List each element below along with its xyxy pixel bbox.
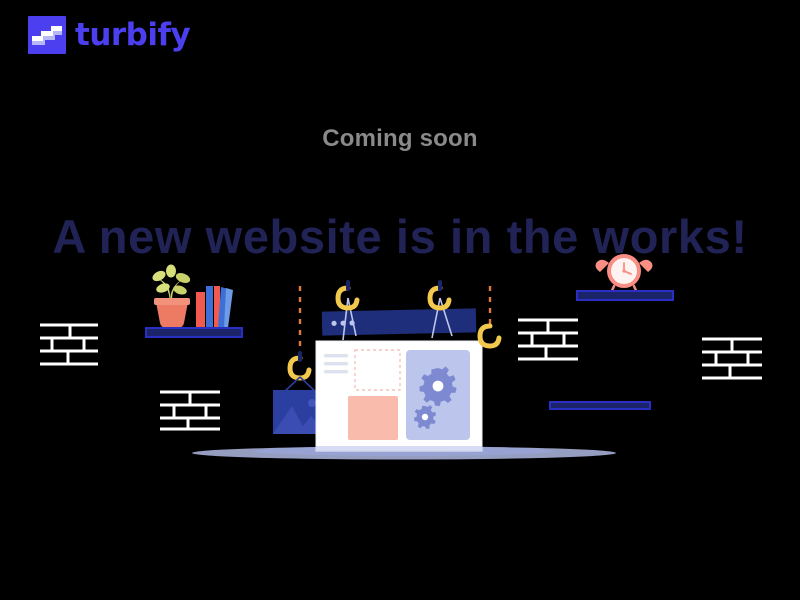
browser-dots [331, 320, 354, 326]
gears-panel[interactable] [406, 350, 470, 440]
brick-wall-center-right [518, 320, 578, 359]
brick-wall-left-lower [160, 392, 220, 429]
potted-plant [151, 265, 192, 329]
turbify-staircase-logo-icon [28, 16, 66, 54]
brick-wall-far-right [702, 339, 762, 378]
books [196, 286, 233, 328]
brand-logo[interactable]: turbify [28, 16, 190, 54]
shelf-left [146, 328, 242, 337]
placeholder-dashed-box [355, 350, 400, 390]
alarm-clock [596, 254, 653, 293]
hanging-hook-image [290, 353, 309, 378]
brand-wordmark: turbify [75, 20, 190, 51]
browser-sidebar-lines [324, 354, 348, 373]
shelf-clock [577, 291, 673, 300]
hanging-hook-far-right [480, 326, 499, 346]
salmon-block [348, 396, 398, 440]
website-under-construction-illustration [0, 240, 800, 480]
page-eyebrow: Coming soon [0, 125, 800, 153]
shelf-right-lower [550, 402, 650, 409]
brick-wall-far-left [40, 325, 98, 364]
